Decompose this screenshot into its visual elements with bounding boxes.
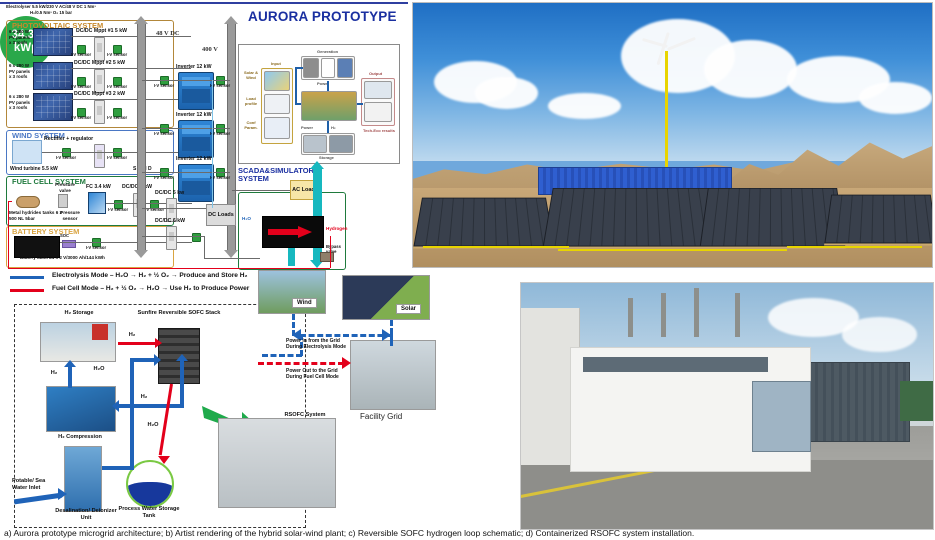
wind-converter-label: Rectifier + regulator [44,136,93,142]
dc-bus-arrow-bottom [134,250,148,258]
scada-gen-icon-wind [321,58,335,78]
dc-bus-voltage-label: 48 V DC [156,30,180,37]
dc-bus-arrow-top [134,16,148,24]
scada-output-chart-2 [364,102,392,122]
wind-turbine-label: Wind turbine 5.5 kW [10,166,80,172]
inverter-2-label: Inverter 12 kW [176,112,211,118]
containerized-system-photo [520,282,934,530]
iv-sensor-icon [192,233,201,242]
pv-array-center-left [543,187,722,246]
pv-panel-icon-2 [33,62,73,90]
legend-swatch-fuelcell [10,289,44,292]
mppt-converter-1 [94,37,105,61]
scada-generation-title: Generation [317,49,338,54]
iv-sensor-label: I-V sensor [106,156,128,161]
wind-turbine-icon [12,140,42,164]
pressure-valve-icon [58,194,68,208]
iv-sensor-label: I-V sensor [70,116,92,121]
facility-grid-photo [350,340,436,410]
wind-turbine-mast [665,51,668,178]
iv-sensor-label: I-V sensor [153,132,175,137]
water-inlet-label: Potable/ Sea Water Inlet [12,478,56,491]
pv-array-left [414,198,555,247]
scada-input-icon-params [264,117,290,139]
electrolyser-hydrogen-label: Hydrogen [326,226,350,232]
electrolyser-flow-arrow [268,226,312,238]
scada-input-title: Input [271,61,281,66]
arrow-compressor-to-storage [68,366,72,388]
dashed-power-out-line [258,362,344,365]
mppt-converter-2 [94,69,105,93]
stream-h2o-b: H₂O [144,422,162,429]
scada-simulator-panel: Solar & Wind Load profile Conf Param. In… [238,44,400,164]
dc-loads-box: DC Loads [206,204,236,226]
inverter-1-label: Inverter 12 kW [176,64,211,70]
power-out-label: Power Out to the Grid During Fuel Cell M… [286,368,352,381]
green-fence [900,381,933,420]
process-water-tank-label: Process Water Storage Tank [114,506,184,519]
wind-rectifier [94,144,105,168]
pv-string-1-desc: 6 x 280 W PV panels x 3 roofs [9,29,31,46]
pv-converter-1-label: DC/DC Mppt #1 5 kW [76,28,127,34]
iv-sensor-label: I-V sensor [106,53,128,58]
dashed-power-in-line [300,334,392,337]
rsofc-system-caption: RSOFC System [270,412,340,419]
pv-array-center-right [699,187,845,246]
scada-storage-title: Storage [319,155,334,160]
solar-photo-caption: Solar [396,304,421,314]
stream-h2o-a: H₂O [90,366,108,373]
battery-bank-label: Battery bank 24 x 2 V/3000 Ah/144 kWh [20,255,112,261]
iv-sensor-label: I-V sensor [106,116,128,121]
fuel-cell-stack-icon [88,192,106,214]
scada-input-icon-load [264,94,290,114]
pressure-valve-label: Pressure valve [50,182,80,193]
grey-container [801,362,910,443]
schematic-title: AURORA PROTOTYPE [248,10,397,24]
pv-panel-icon-3 [33,93,73,121]
figure-canvas: AURORA PROTOTYPE PHOTOVOLTAIC SYSTEM WIN… [0,0,935,540]
iv-sensor-label: I-V sensor [70,85,92,90]
h2-compressor-photo [46,386,116,432]
pv-string-2-desc: 6 x 280 W PV panels x 3 roofs [9,63,31,80]
scada-input-row-1: Solar & Wind [243,71,259,81]
pv-array-right [825,195,933,244]
iv-sensor-label: I-V sensor [55,156,77,161]
scada-microgrid-view [301,91,357,121]
scada-gen-icon-1 [303,58,319,78]
legend-swatch-electrolysis [10,276,44,279]
hazard-label-icon [92,324,108,340]
iv-sensor-label: I-V sensor [107,208,129,213]
ac-bus-arrow-bottom [224,250,238,258]
pv-converter-2-label: DC/DC Mppt #2 5 kW [74,60,125,66]
dc-bus [137,22,146,252]
stream-h2-a: H₂ [124,332,140,339]
inverter-2-icon [178,120,214,158]
pv-converter-3-label: DC/DC Mppt #3 2 kW [74,91,125,97]
process-skid [752,381,812,452]
legend-label-fuelcell: Fuel Cell Mode – H₂ + ½ O₂ → H₂O → Use H… [52,285,249,292]
figure-caption: a) Aurora prototype microgrid architectu… [0,528,935,539]
desalination-label: Desalination/ Deionizer Unit [50,508,122,521]
dcdc-5kw-label: DC/DC 5 kw [155,190,184,196]
scada-output-caption: Tech-Eco results [363,129,395,134]
iv-sensor-label: I-V sensor [106,85,128,90]
fuel-cell-power-label: FC 3.4 kW [86,184,111,190]
rsofc-system-photo [218,418,336,508]
stream-h2-b: H₂ [46,370,62,377]
ac-bus-voltage-label: 400 V [202,46,218,53]
legend-label-electrolysis: Electrolysis Mode – H₂O → H₂ + ½ O₂ → Pr… [52,272,247,279]
bypass-valve-icon [320,252,334,262]
inverter-1-icon [178,72,214,110]
electrolyser-water-label: H₂O [242,216,256,222]
soc-label: SOC [60,233,78,238]
pressure-sensor-label: Pressure sensor [54,210,86,221]
iv-sensor-label: I-V sensor [70,53,92,58]
dcdc-6kw-icon [166,226,177,250]
scada-storage-icon-1 [303,135,327,153]
container-vent-strip [583,357,768,372]
metal-hydride-tank-icon [16,196,40,208]
mppt-converter-3 [94,100,105,124]
ac-bus-arrow-top [224,16,238,24]
scada-output-chart-1 [364,81,392,99]
scada-storage-icon-2 [329,135,353,153]
h2-compression-label: H₂ Compression [32,434,128,441]
stream-h2-c: H₂ [136,394,152,401]
scada-gen-icon-pv [337,58,353,78]
facility-grid-caption: Facility Grid [360,412,402,421]
sofc-stack-label: Sunfire Reversible SOFC Stack [136,310,222,317]
power-in-label: Power in from the Grid During Electrolys… [286,338,352,351]
plant-3d-render-photo [412,2,933,268]
iv-sensor-label: I-V sensor [153,84,175,89]
scada-input-row-3: Conf Param. [243,121,259,131]
scada-h2-arrow: H₂ [331,125,336,130]
iv-sensor-label: I-V sensor [153,176,175,181]
desalination-unit-photo [64,446,102,512]
wind-photo-caption: Wind [292,298,317,308]
aurora-prototype-schematic: AURORA PROTOTYPE PHOTOVOLTAIC SYSTEM WIN… [0,2,408,268]
dcdc-6kw-label: DC/DC 6 kW [155,218,185,224]
h2-storage-label: H₂ Storage [34,310,124,317]
mode-legend: Electrolysis Mode – H₂O → H₂ + ½ O₂ → Pr… [10,272,260,298]
scada-input-row-2: Load profile [243,97,259,107]
iv-sensor-label: I-V sensor [85,246,107,251]
inverter-3-label: Inverter 12 kW [176,156,211,162]
arrow-h2-to-stack [118,342,156,345]
scada-input-icon-solar [264,71,290,91]
pv-panel-icon-1 [33,28,73,56]
scada-power-arrow-2: Power [301,125,313,130]
scada-system-title: SCADA&SIMULATOR SYSTEM [238,167,314,183]
inverter-3-icon [178,164,214,202]
pv-string-3-desc: 6 x 280 W PV panels x 3 roofs [9,94,31,111]
scada-output-title: Output [369,71,382,76]
electrolyser-spec: Electrolyser 5.5 kW/230 V AC/48 V DC 1 N… [0,4,102,16]
